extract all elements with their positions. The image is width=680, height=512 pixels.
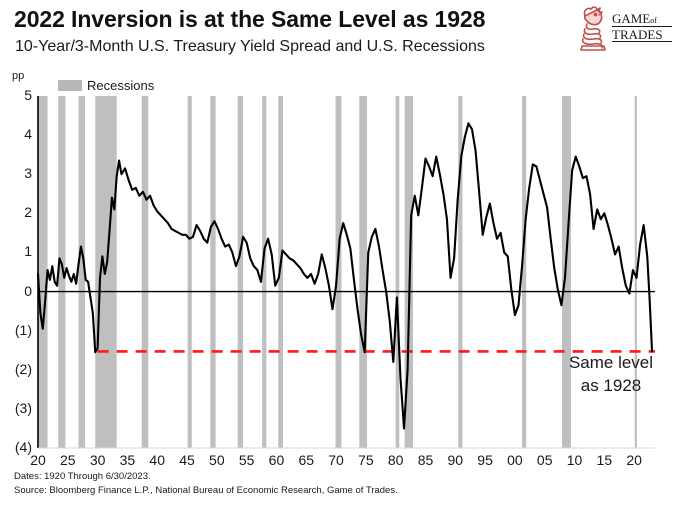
y-tick-label: 3 — [2, 165, 32, 181]
recession-band — [210, 96, 215, 448]
x-tick-label: 80 — [383, 452, 409, 468]
y-tick-label: (2) — [2, 361, 32, 377]
annotation-line-2: as 1928 — [552, 375, 670, 398]
y-tick-label: (1) — [2, 322, 32, 338]
x-tick-label: 20 — [25, 452, 51, 468]
threshold-annotation: Same level as 1928 — [552, 352, 670, 398]
x-tick-label: 40 — [144, 452, 170, 468]
x-tick-label: 35 — [114, 452, 140, 468]
x-tick-label: 05 — [532, 452, 558, 468]
x-tick-label: 90 — [442, 452, 468, 468]
x-tick-label: 95 — [472, 452, 498, 468]
recession-band — [238, 96, 243, 448]
x-tick-label: 70 — [323, 452, 349, 468]
footnote-source: Source: Bloomberg Finance L.P., National… — [14, 484, 398, 498]
x-tick-label: 15 — [591, 452, 617, 468]
recession-band — [359, 96, 367, 448]
x-tick-label: 65 — [293, 452, 319, 468]
plot-area — [0, 0, 680, 512]
x-tick-label: 20 — [621, 452, 647, 468]
x-tick-label: 55 — [234, 452, 260, 468]
x-tick-label: 10 — [562, 452, 588, 468]
y-tick-label: 4 — [2, 126, 32, 142]
footnote-dates: Dates: 1920 Through 6/30/2023. — [14, 470, 398, 484]
x-tick-label: 75 — [353, 452, 379, 468]
chart-page: 2022 Inversion is at the Same Level as 1… — [0, 0, 680, 512]
x-tick-label: 00 — [502, 452, 528, 468]
chart-svg — [0, 0, 680, 512]
chart-footnotes: Dates: 1920 Through 6/30/2023. Source: B… — [14, 470, 398, 498]
y-tick-label: (3) — [2, 400, 32, 416]
x-tick-label: 60 — [263, 452, 289, 468]
recession-band — [522, 96, 526, 448]
x-tick-label: 85 — [412, 452, 438, 468]
x-tick-label: 50 — [204, 452, 230, 468]
annotation-line-1: Same level — [552, 352, 670, 375]
y-tick-label: 1 — [2, 243, 32, 259]
recession-band — [58, 96, 65, 448]
y-tick-label: 5 — [2, 87, 32, 103]
recession-band — [188, 96, 192, 448]
y-tick-label: 0 — [2, 283, 32, 299]
x-tick-label: 30 — [85, 452, 111, 468]
recession-band — [396, 96, 400, 448]
recession-band — [39, 96, 48, 448]
recession-band — [142, 96, 149, 448]
x-tick-label: 25 — [55, 452, 81, 468]
x-tick-label: 45 — [174, 452, 200, 468]
y-tick-label: 2 — [2, 204, 32, 220]
